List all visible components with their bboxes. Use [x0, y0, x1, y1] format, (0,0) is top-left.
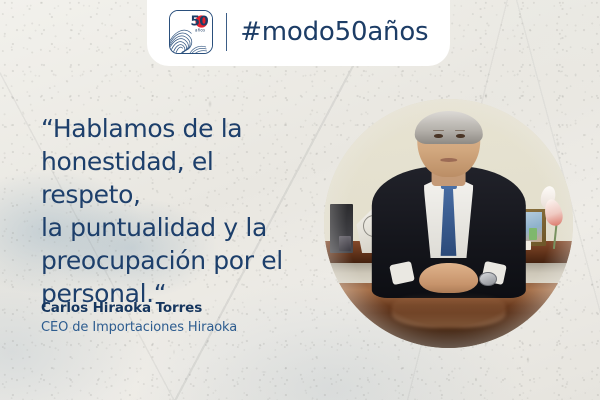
- attribution: Carlos Hiraoka Torres CEO de Importacion…: [41, 300, 301, 336]
- header-content: 50 años #modo50años: [169, 10, 429, 54]
- portrait-edge-fade: [324, 99, 573, 348]
- attribution-name: Carlos Hiraoka Torres: [41, 300, 301, 317]
- header-divider: [226, 13, 228, 51]
- hiraoka-wave-50-anos-logo-icon: 50 años: [169, 10, 213, 54]
- quote-text: “Hablamos de la honestidad, el respeto, …: [41, 112, 309, 310]
- portrait-photo: [324, 99, 573, 348]
- campaign-hashtag: #modo50años: [240, 19, 428, 45]
- poster-canvas: 50 años #modo50años “Hablamos de la hone…: [0, 0, 600, 400]
- attribution-role: CEO de Importaciones Hiraoka: [41, 319, 301, 336]
- svg-text:años: años: [195, 28, 205, 33]
- header-card: 50 años #modo50años: [147, 0, 450, 66]
- quote-block: “Hablamos de la honestidad, el respeto, …: [41, 112, 309, 310]
